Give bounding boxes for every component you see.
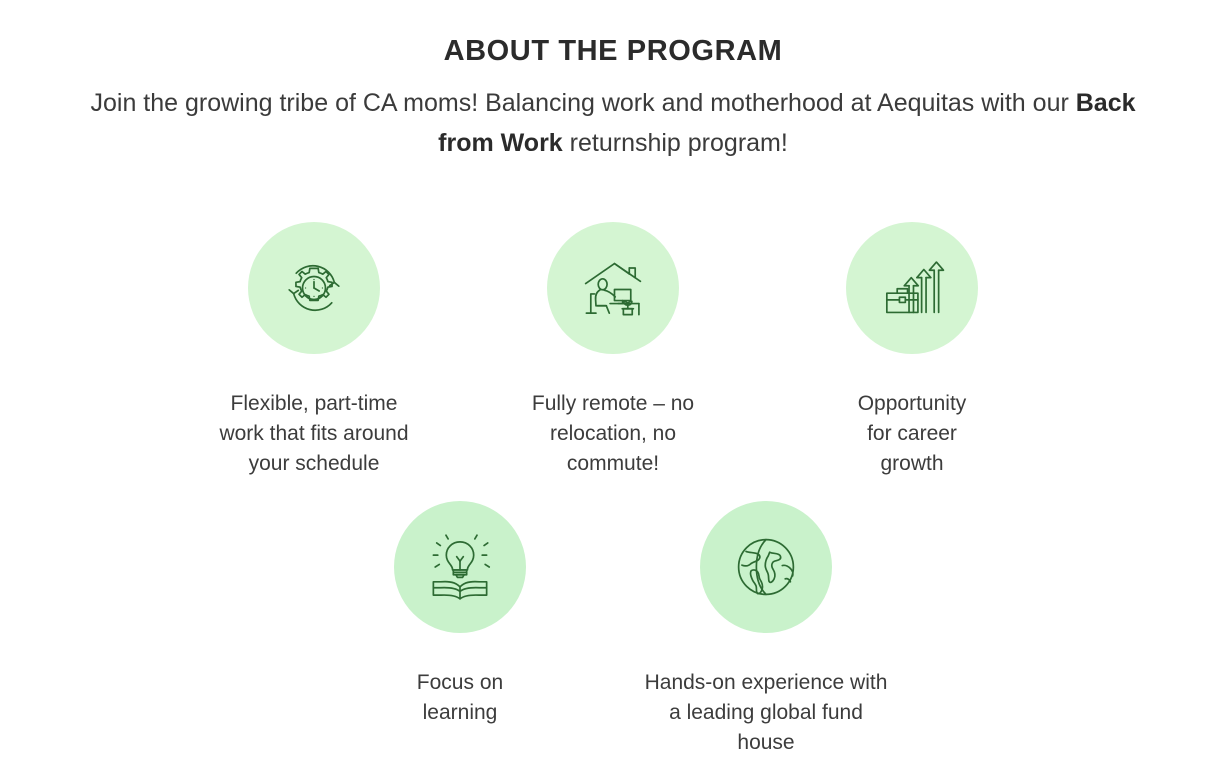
caption-line: work that fits around — [219, 419, 408, 449]
caption-line: Opportunity — [858, 389, 967, 419]
feature-caption: Hands-on experience with a leading globa… — [645, 668, 888, 759]
feature-item-flexible-part-time: Flexible, part-time work that fits aroun… — [248, 222, 380, 480]
gear-clock-arrows-icon — [248, 222, 380, 354]
subtitle-text-tail: returnship program! — [563, 129, 788, 157]
feature-item-focus-on-learning: Focus on learning — [394, 501, 526, 728]
caption-line: Flexible, part-time — [219, 389, 408, 419]
section-subtitle: Join the growing tribe of CA moms! Balan… — [83, 83, 1143, 164]
globe-icon — [700, 501, 832, 633]
caption-line: Focus on — [417, 668, 503, 698]
caption-line: commute! — [532, 449, 694, 479]
caption-line: Hands-on experience with — [645, 668, 888, 698]
feature-caption: Flexible, part-time work that fits aroun… — [219, 389, 408, 480]
caption-line: a leading global fund — [645, 698, 888, 728]
caption-line: house — [645, 728, 888, 758]
caption-line: growth — [858, 449, 967, 479]
caption-line: learning — [417, 698, 503, 728]
subtitle-text-lead: Join the growing tribe of CA moms! Balan… — [90, 89, 1075, 117]
caption-line: your schedule — [219, 449, 408, 479]
feature-caption: Fully remote – no relocation, no commute… — [532, 389, 694, 480]
feature-grid: Flexible, part-time work that fits aroun… — [0, 222, 1226, 758]
section-header: ABOUT THE PROGRAM Join the growing tribe… — [0, 0, 1226, 164]
feature-item-career-growth: Opportunity for career growth — [846, 222, 978, 480]
feature-item-fully-remote: Fully remote – no relocation, no commute… — [547, 222, 679, 480]
page-title: ABOUT THE PROGRAM — [0, 34, 1226, 69]
feature-caption: Focus on learning — [417, 668, 503, 728]
caption-line: for career — [858, 419, 967, 449]
briefcase-growth-arrows-icon — [846, 222, 978, 354]
caption-line: relocation, no — [532, 419, 694, 449]
lightbulb-book-icon — [394, 501, 526, 633]
feature-row-2: Focus on learning — [0, 501, 1226, 759]
about-the-program-section: ABOUT THE PROGRAM Join the growing tribe… — [0, 0, 1226, 763]
feature-caption: Opportunity for career growth — [858, 389, 967, 480]
caption-line: Fully remote – no — [532, 389, 694, 419]
feature-item-global-fund-house: Hands-on experience with a leading globa… — [700, 501, 832, 759]
feature-row-1: Flexible, part-time work that fits aroun… — [0, 222, 1226, 480]
work-from-home-icon — [547, 222, 679, 354]
